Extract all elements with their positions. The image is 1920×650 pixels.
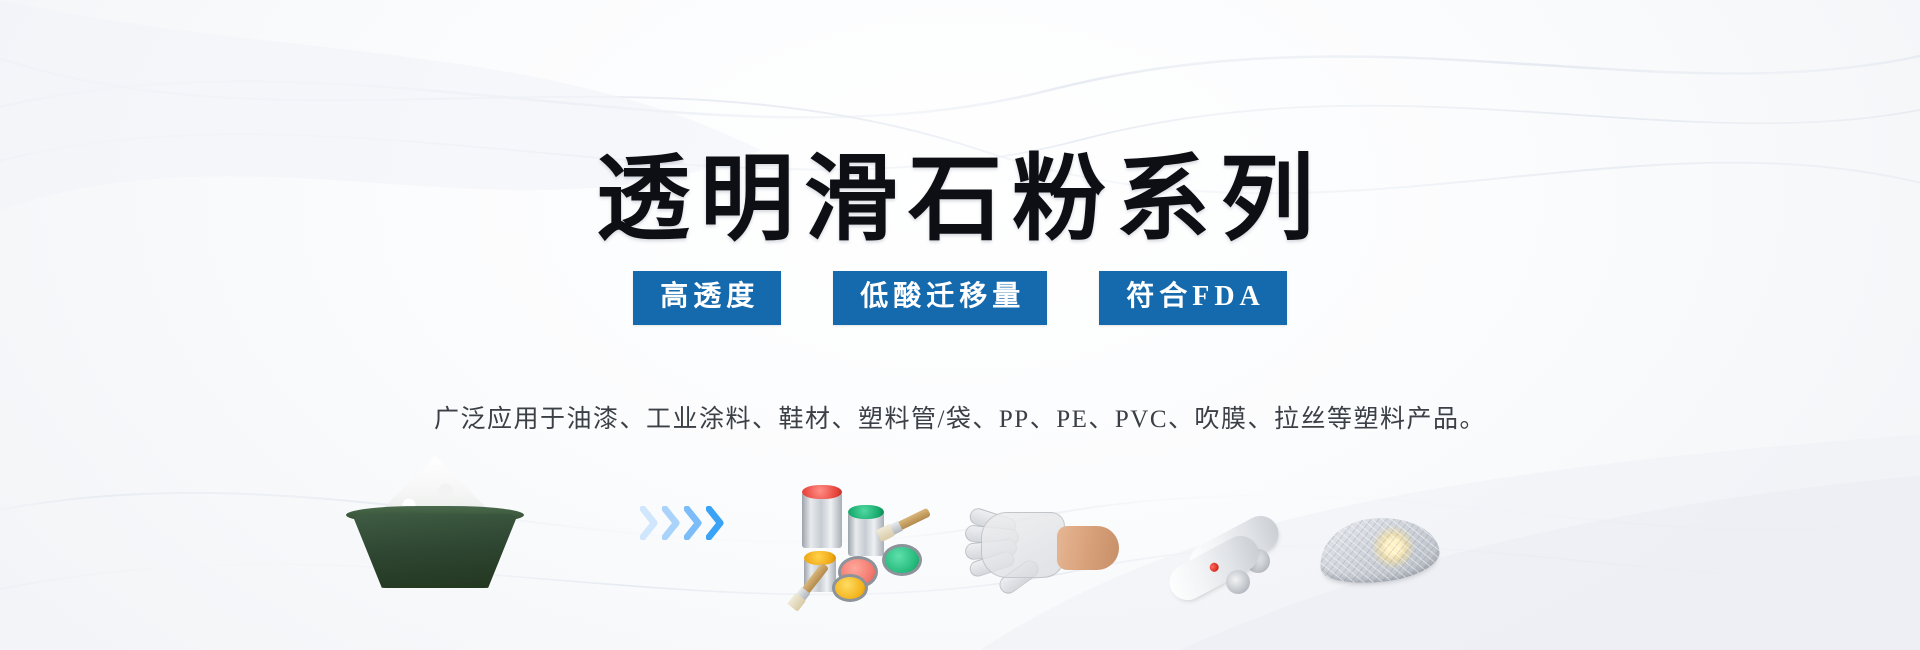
sole-body [1316, 512, 1442, 588]
badge-fda-compliant[interactable]: 符合FDA [1099, 271, 1287, 325]
badge-high-transparency[interactable]: 高透度 [633, 271, 781, 325]
page-title: 透明滑石粉系列 [0, 151, 1920, 250]
paint-cans-image [790, 475, 940, 600]
roll-red-marker [1208, 561, 1220, 573]
plastic-film-rolls-image [1150, 485, 1290, 600]
paint-lid-green [882, 544, 922, 576]
bare-wrist [1057, 526, 1119, 570]
glove-palm [981, 512, 1065, 578]
shoe-sole-image [1315, 490, 1445, 600]
chevron-right-icon-3 [684, 506, 703, 540]
film-roll-front-end [1226, 570, 1250, 594]
paint-can-green-surface [848, 505, 884, 519]
talc-powder-bowl-image [340, 470, 530, 600]
chevron-right-icon-1 [640, 506, 659, 540]
paint-brush-upper [875, 504, 934, 544]
sole-mesh-texture [1316, 512, 1442, 588]
badge-low-acid-migration[interactable]: 低酸迁移量 [833, 271, 1047, 325]
chevron-right-icon-4 [706, 506, 725, 540]
brush-handle [897, 508, 932, 531]
product-image-strip [0, 430, 1920, 600]
paint-can-red [802, 492, 842, 548]
process-arrows-icon [640, 498, 770, 548]
paint-can-red-surface [802, 485, 842, 499]
product-banner: 透明滑石粉系列 高透度 低酸迁移量 符合FDA 广泛应用于油漆、工业涂料、鞋材、… [0, 0, 1920, 650]
paint-lid-yellow [832, 574, 868, 602]
feature-badge-row: 高透度 低酸迁移量 符合FDA [0, 271, 1920, 325]
chevron-right-icon-2 [662, 506, 681, 540]
plastic-glove-hand-image [965, 480, 1125, 600]
green-bowl [352, 514, 518, 588]
